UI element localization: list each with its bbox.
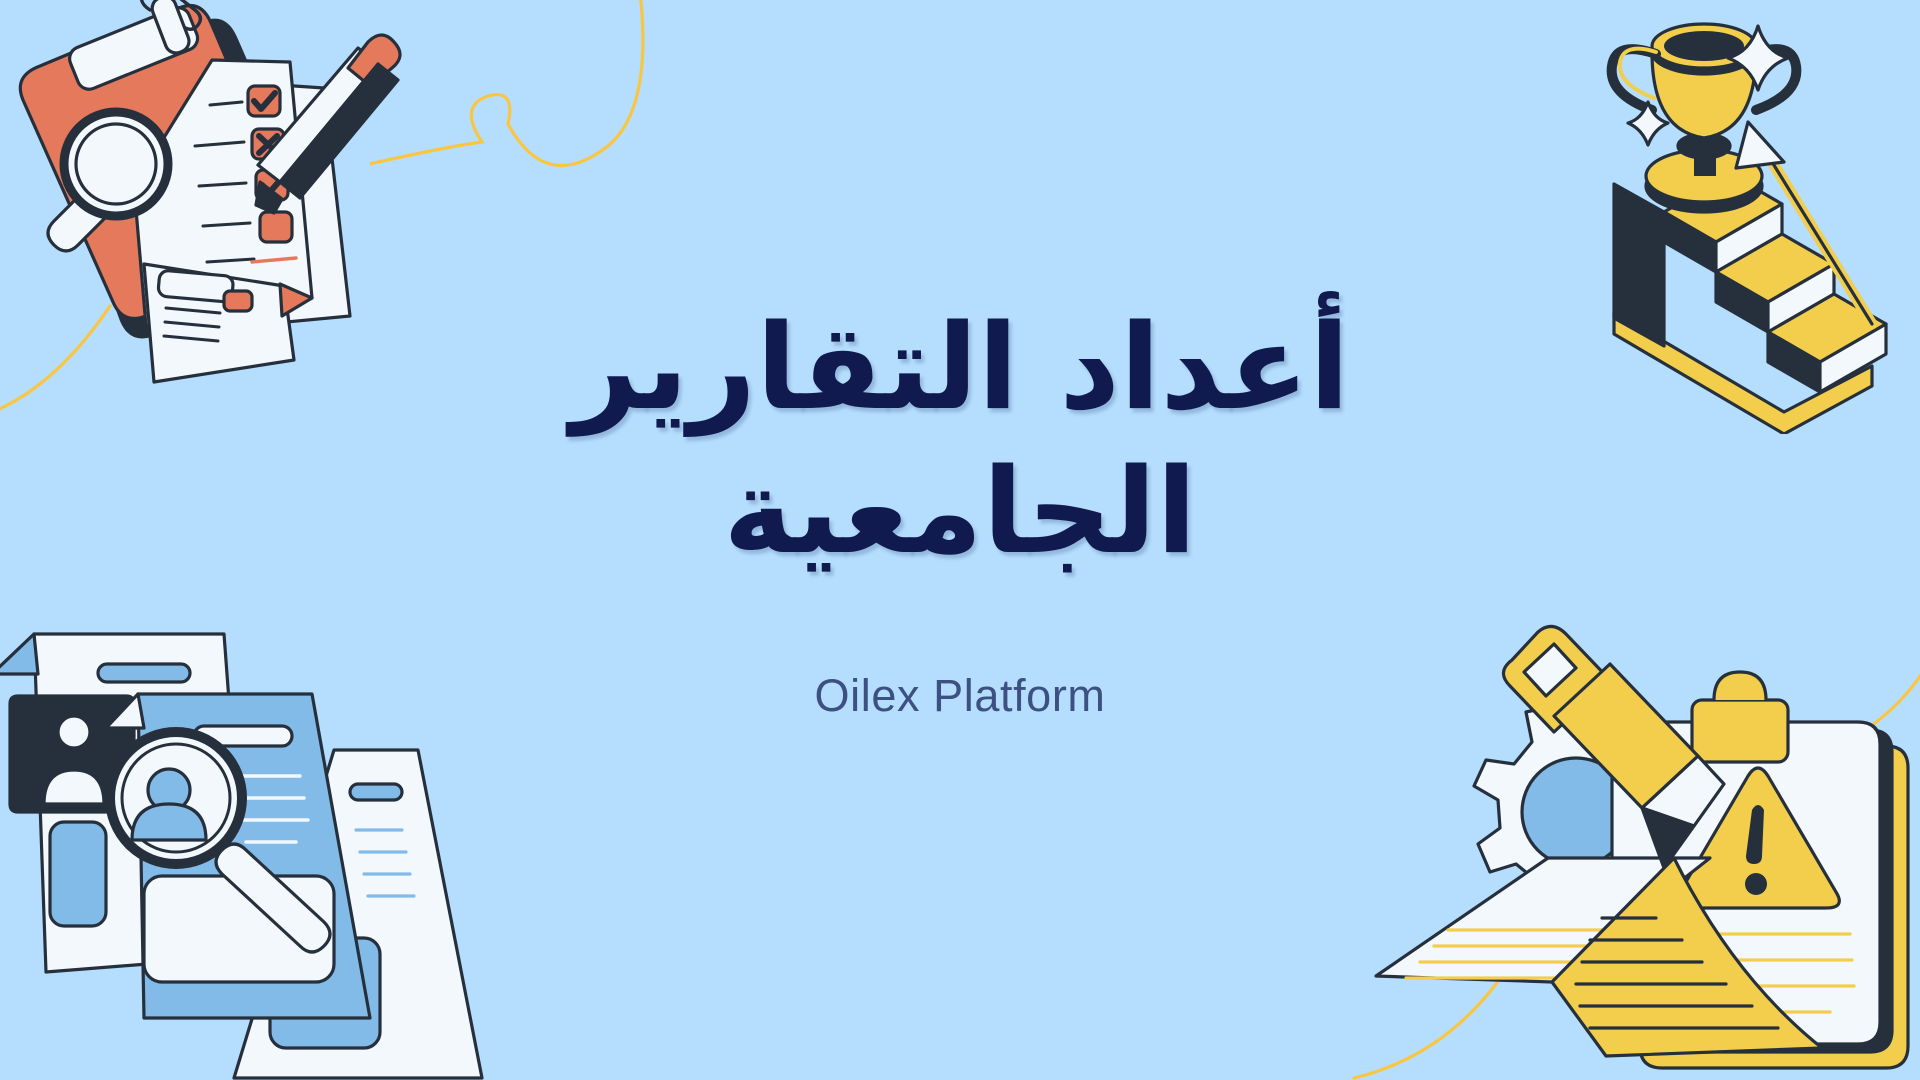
sparkle-icon-1 (1728, 26, 1788, 90)
note-label (158, 270, 234, 302)
resume-title-bar (194, 726, 292, 746)
stairs-side (1614, 184, 1664, 346)
document-page-right (234, 750, 482, 1078)
lined-document (1376, 858, 1710, 982)
checklist-page (134, 60, 312, 326)
trophy-icon (1612, 24, 1797, 212)
clip-body (149, 0, 192, 56)
note-badge (224, 291, 252, 311)
pencil-icon (1503, 626, 1724, 868)
trophy-handle-right (1752, 49, 1796, 110)
slide-text-block: أعداد التقارير الجامعية Oilex Platform (400, 296, 1520, 722)
folded-corner (280, 284, 312, 316)
folded-yellow-page (1552, 858, 1822, 1056)
checkbox-checked (248, 86, 280, 116)
trophy-cup (1652, 52, 1756, 138)
base-slab (1614, 312, 1872, 434)
warning-triangle-icon (1677, 768, 1840, 908)
page-title: أعداد التقارير الجامعية (400, 296, 1520, 584)
checklist-page-back (220, 81, 350, 326)
checkbox-empty (260, 212, 292, 242)
squiggle-top (370, 0, 670, 200)
checkbox-checked-2 (256, 170, 288, 200)
pen-icon (256, 35, 400, 213)
stair-step-top (1664, 174, 1782, 242)
highlighted-resume-page (138, 694, 370, 1018)
orange-clipboard (20, 6, 299, 319)
resume-photo-block (144, 876, 334, 982)
squiggle-left (0, 290, 210, 490)
note-page (144, 264, 294, 382)
trophy-handle-left (1612, 49, 1656, 110)
upward-arrow-icon (1736, 122, 1872, 324)
sparkle-icon-2 (1628, 102, 1668, 145)
gear-icon (1474, 702, 1702, 920)
text-lines (195, 102, 254, 262)
document-page-back (34, 634, 248, 972)
checkbox-crossed (252, 129, 284, 159)
clipboard-shadow (43, 19, 327, 339)
presentation-slide: أعداد التقارير الجامعية Oilex Platform (0, 0, 1920, 1080)
subtitle: Oilex Platform (400, 670, 1520, 722)
clipboard-icon (1640, 746, 1908, 1068)
magnifier-icon (48, 112, 168, 251)
trophy-stairs-illustration (1552, 0, 1920, 434)
clipboard-checklist-illustration (0, 0, 424, 386)
page-title-bar (98, 664, 190, 682)
orange-rule (252, 258, 296, 262)
clipboard-label (66, 4, 201, 93)
magnifier-icon (110, 732, 330, 952)
avatar-icon (10, 696, 134, 812)
paper-clip-icon (141, 0, 200, 29)
person-icon (132, 769, 206, 840)
clipboard-clip (1692, 700, 1788, 762)
